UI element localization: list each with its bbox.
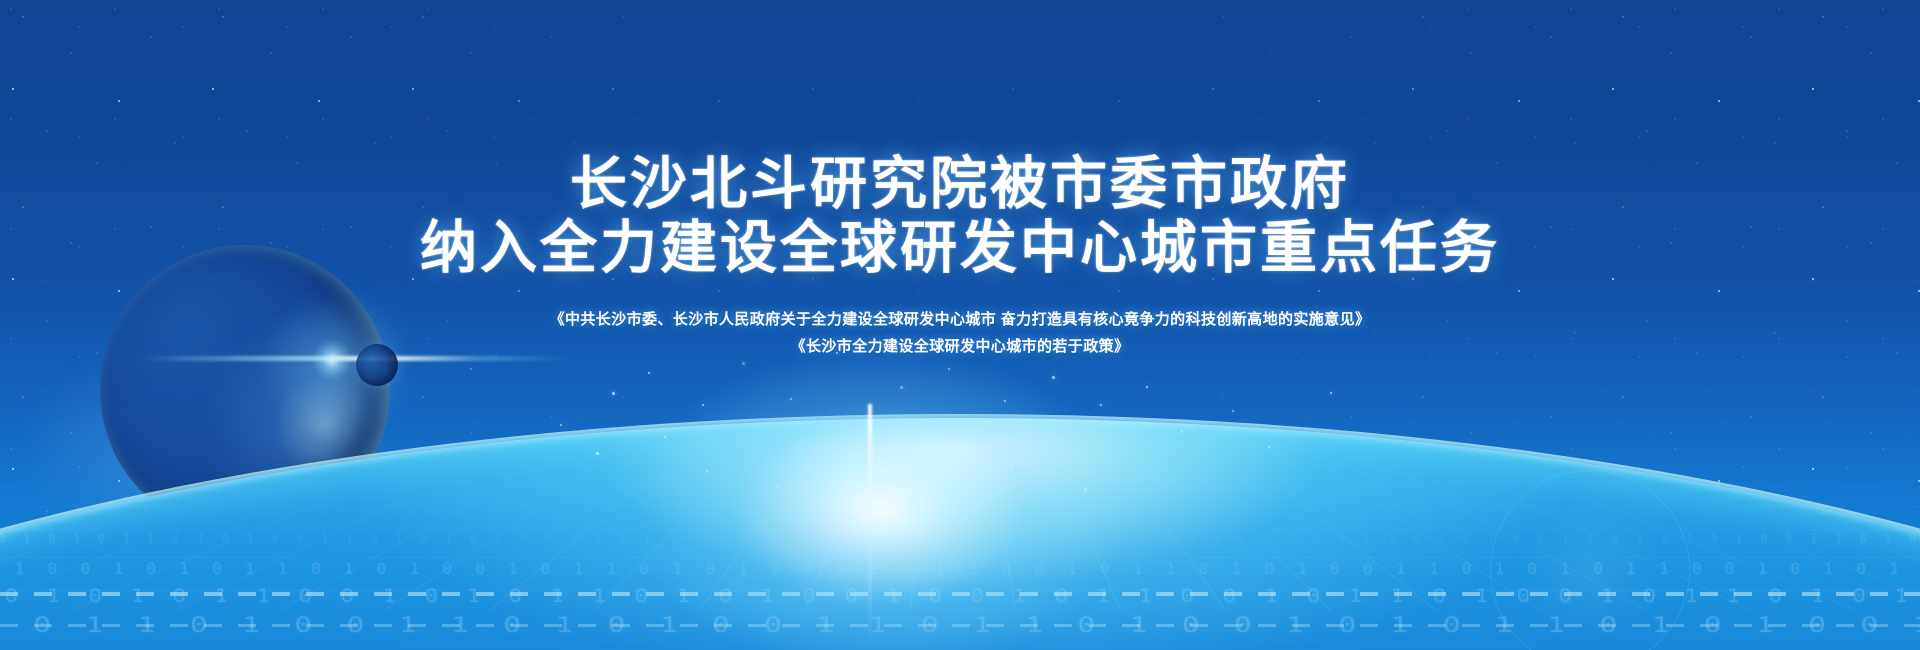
light-shaft [868,404,872,650]
banner-stage: 0 1 0 1 0 0 1 1 0 1 0 1 0 0 1 0 1 1 0 1 … [0,0,1920,650]
banner-copy: 长沙北斗研究院被市委市政府 纳入全力建设全球研发中心城市重点任务 《中共长沙市委… [0,152,1920,360]
banner-title: 长沙北斗研究院被市委市政府 纳入全力建设全球研发中心城市重点任务 [0,152,1920,280]
banner-subtitles: 《中共长沙市委、长沙市人民政府关于全力建设全球研发中心城市 奋力打造具有核心竟争… [0,306,1920,360]
banner-subtitle-line-2: 《长沙市全力建设全球研发中心城市的若于政策》 [0,333,1920,360]
banner-title-line-2: 纳入全力建设全球研发中心城市重点任务 [0,216,1920,280]
banner-subtitle-line-1: 《中共长沙市委、长沙市人民政府关于全力建设全球研发中心城市 奋力打造具有核心竟争… [0,306,1920,333]
banner-title-line-1: 长沙北斗研究院被市委市政府 [0,152,1920,216]
